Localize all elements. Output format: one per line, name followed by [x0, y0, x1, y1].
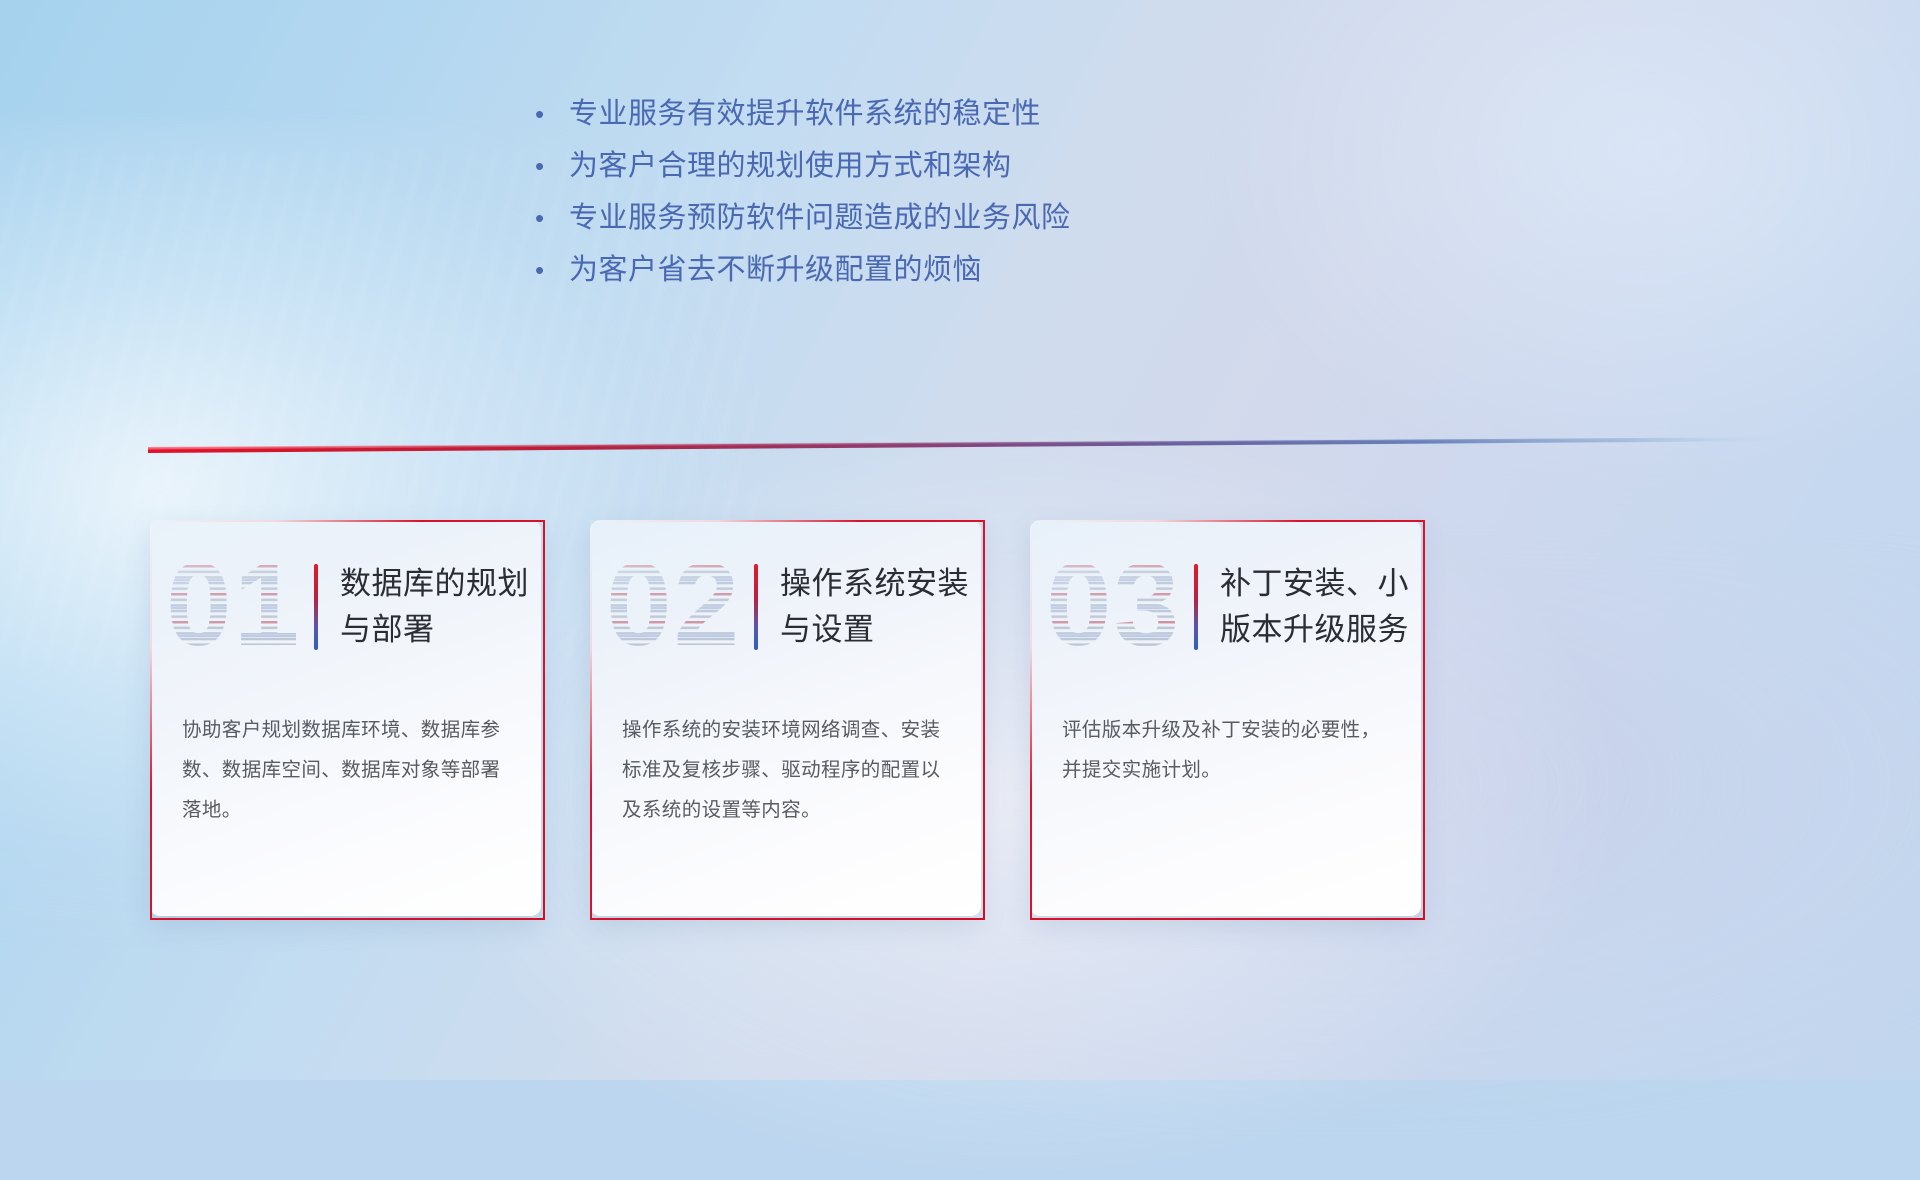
card-number-watermark: 01 01	[162, 537, 314, 677]
card-body-text: 评估版本升级及补丁安装的必要性，并提交实施计划。	[1062, 710, 1394, 790]
bullet-text: 专业服务预防软件问题造成的业务风险	[569, 192, 1071, 244]
service-card[interactable]: 01 01 数据库的规划与部署 协助客户规划数据库环境、数据库参数、数据库空间、…	[150, 520, 545, 920]
card-accent-bar	[314, 564, 318, 650]
card-accent-bar	[1194, 564, 1198, 650]
card-body-text: 操作系统的安装环境网络调查、安装标准及复核步骤、驱动程序的配置以及系统的设置等内…	[622, 710, 954, 830]
bullet-list: • 专业服务有效提升软件系统的稳定性 • 为客户合理的规划使用方式和架构 • 专…	[535, 88, 1295, 296]
card-surface: 01 01 数据库的规划与部署 协助客户规划数据库环境、数据库参数、数据库空间、…	[150, 520, 541, 916]
card-number-watermark: 02 02	[602, 537, 754, 677]
card-title: 操作系统安装与设置	[780, 561, 981, 653]
card-surface: 03 03 补丁安装、小版本升级服务 评估版本升级及补丁安装的必要性，并提交实施…	[1030, 520, 1421, 916]
card-accent-bar	[754, 564, 758, 650]
card-number-watermark: 03 03	[1042, 537, 1194, 677]
card-row: 01 01 数据库的规划与部署 协助客户规划数据库环境、数据库参数、数据库空间、…	[150, 520, 1425, 920]
service-card[interactable]: 02 02 操作系统安装与设置 操作系统的安装环境网络调查、安装标准及复核步骤、…	[590, 520, 985, 920]
bullet-marker-icon: •	[535, 192, 569, 244]
card-body-text: 协助客户规划数据库环境、数据库参数、数据库空间、数据库对象等部署落地。	[182, 710, 514, 830]
service-card[interactable]: 03 03 补丁安装、小版本升级服务 评估版本升级及补丁安装的必要性，并提交实施…	[1030, 520, 1425, 920]
bullet-text: 为客户省去不断升级配置的烦恼	[569, 244, 982, 296]
card-header: 02 02 操作系统安装与设置	[590, 532, 981, 682]
bullet-text: 专业服务有效提升软件系统的稳定性	[569, 88, 1041, 140]
bullet-item: • 为客户省去不断升级配置的烦恼	[535, 244, 1295, 296]
bullet-marker-icon: •	[535, 244, 569, 296]
section-divider	[148, 432, 1788, 454]
svg-text:03: 03	[1046, 539, 1181, 671]
bullet-item: • 专业服务预防软件问题造成的业务风险	[535, 192, 1295, 244]
bullet-item: • 专业服务有效提升软件系统的稳定性	[535, 88, 1295, 140]
card-title: 数据库的规划与部署	[340, 561, 541, 653]
card-header: 03 03 补丁安装、小版本升级服务	[1030, 532, 1421, 682]
bullet-text: 为客户合理的规划使用方式和架构	[569, 140, 1012, 192]
svg-text:02: 02	[606, 539, 741, 671]
bullet-marker-icon: •	[535, 88, 569, 140]
bullet-marker-icon: •	[535, 140, 569, 192]
card-title: 补丁安装、小版本升级服务	[1220, 561, 1421, 653]
svg-text:01: 01	[166, 539, 301, 671]
card-header: 01 01 数据库的规划与部署	[150, 532, 541, 682]
card-surface: 02 02 操作系统安装与设置 操作系统的安装环境网络调查、安装标准及复核步骤、…	[590, 520, 981, 916]
bullet-item: • 为客户合理的规划使用方式和架构	[535, 140, 1295, 192]
